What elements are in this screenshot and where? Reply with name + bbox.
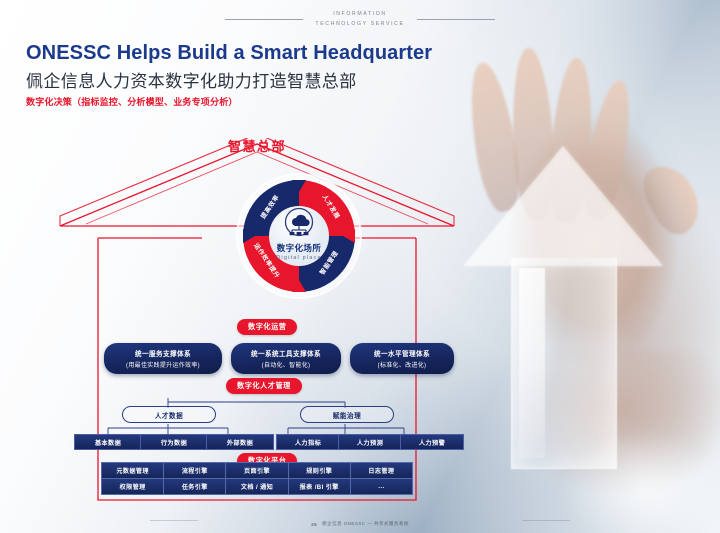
slide-canvas: INFORMATION TECHNOLOGY SERVICE ONESSC He… [0, 0, 720, 533]
hand-finger [578, 78, 638, 222]
platform-grid: 元数据管理 流程引擎 页面引擎 规则引擎 日志管理 权限管理 任务引擎 文档 /… [101, 462, 413, 495]
capsule-3-line-2: (标准化、改进化) [378, 360, 427, 369]
page-title-chinese: 佩企信息人力资本数字化助力打造智慧总部 [26, 67, 357, 92]
leaf-external-data: 外部数据 [206, 434, 274, 450]
red-subtitle: 数字化决策（指标监控、分析模型、业务专项分析） [26, 95, 238, 108]
arrow-shaft [511, 258, 617, 469]
badge-digital-talent-management: 数字化人才管理 [226, 378, 302, 394]
eyebrow-line-1: INFORMATION [315, 10, 404, 20]
leaf-behavior-data: 行为数据 [140, 434, 208, 450]
leaf-hr-metrics: 人力指标 [276, 434, 340, 450]
house-label: 智慧总部 [52, 136, 462, 155]
capsule-2-line-1: 统一系统工具支撑体系 [251, 348, 321, 358]
hand-thumb [635, 156, 709, 241]
platform-row-1: 元数据管理 流程引擎 页面引擎 规则引擎 日志管理 [101, 462, 413, 479]
hand-wrist [520, 350, 720, 533]
capsule-3: 统一水平管理体系 (标准化、改进化) [350, 343, 454, 374]
leaf-hr-alert: 人力预警 [400, 434, 464, 450]
platform-cell-process-engine: 流程引擎 [164, 462, 226, 479]
eyebrow-rule-right [417, 19, 495, 20]
donut-diagram: 数字化场所 Digital place 人才发展 智能管理 运作效率提升 提高效… [235, 172, 363, 300]
donut-center-label: 数字化场所 Digital place [263, 211, 335, 261]
capsule-2: 统一系统工具支撑体系 (自动化、智能化) [231, 343, 341, 374]
hand-palm [455, 70, 720, 500]
platform-cell-more: ... [351, 479, 413, 495]
footer-page-number: 25 [311, 522, 317, 527]
platform-cell-bi-engine: 报表 /BI 引擎 [289, 479, 351, 495]
hand-finger [546, 57, 596, 224]
platform-cell-doc-notify: 文档 / 通知 [226, 479, 288, 495]
bokeh-blob [560, 430, 720, 533]
glass-arrow-graphic [455, 138, 670, 468]
page-title-english: ONESSC Helps Build a Smart Headquarter [26, 42, 432, 65]
platform-cell-metadata: 元数据管理 [101, 462, 164, 479]
eyebrow-text: INFORMATION TECHNOLOGY SERVICE [315, 10, 404, 30]
footer: 25 佩企信息 ONESSC — 共享式服务系统 [0, 521, 720, 527]
eyebrow-banner: INFORMATION TECHNOLOGY SERVICE [0, 10, 720, 30]
hand-finger [509, 47, 558, 221]
tree-node-talent-data: 人才数据 [122, 406, 216, 423]
capsule-2-line-2: (自动化、智能化) [262, 360, 311, 369]
platform-cell-task-engine: 任务引擎 [164, 479, 226, 495]
badge-digital-operation: 数字化运营 [237, 319, 297, 335]
platform-cell-log-management: 日志管理 [351, 462, 413, 479]
platform-cell-page-engine: 页面引擎 [226, 462, 288, 479]
leaf-basic-data: 基本数据 [74, 434, 142, 450]
capsule-3-line-1: 统一水平管理体系 [374, 348, 430, 358]
tree-connectors: 人才数据 赋能治理 基本数据 行为数据 外部数据 人力指标 人力预测 人力预警 [60, 398, 455, 450]
platform-cell-rule-engine: 规则引擎 [289, 462, 351, 479]
donut-center-title: 数字化场所 [263, 242, 335, 254]
platform-row-2: 权限管理 任务引擎 文档 / 通知 报表 /BI 引擎 ... [101, 479, 413, 495]
leaf-hr-forecast: 人力预测 [338, 434, 402, 450]
platform-cell-permission: 权限管理 [101, 479, 164, 495]
capsule-1-line-2: (用最佳实践提升运作效率) [126, 360, 200, 369]
capsule-1: 统一服务支撑体系 (用最佳实践提升运作效率) [104, 343, 222, 374]
footer-text: 佩企信息 ONESSC — 共享式服务系统 [322, 521, 409, 527]
tree-node-governance: 赋能治理 [300, 406, 394, 423]
capsule-1-line-1: 统一服务支撑体系 [135, 348, 191, 358]
arrow-head [463, 146, 663, 266]
arrow-gloss [519, 268, 545, 458]
eyebrow-line-2: TECHNOLOGY SERVICE [315, 20, 404, 30]
eyebrow-rule-left [225, 19, 303, 20]
hand-finger [463, 60, 526, 214]
